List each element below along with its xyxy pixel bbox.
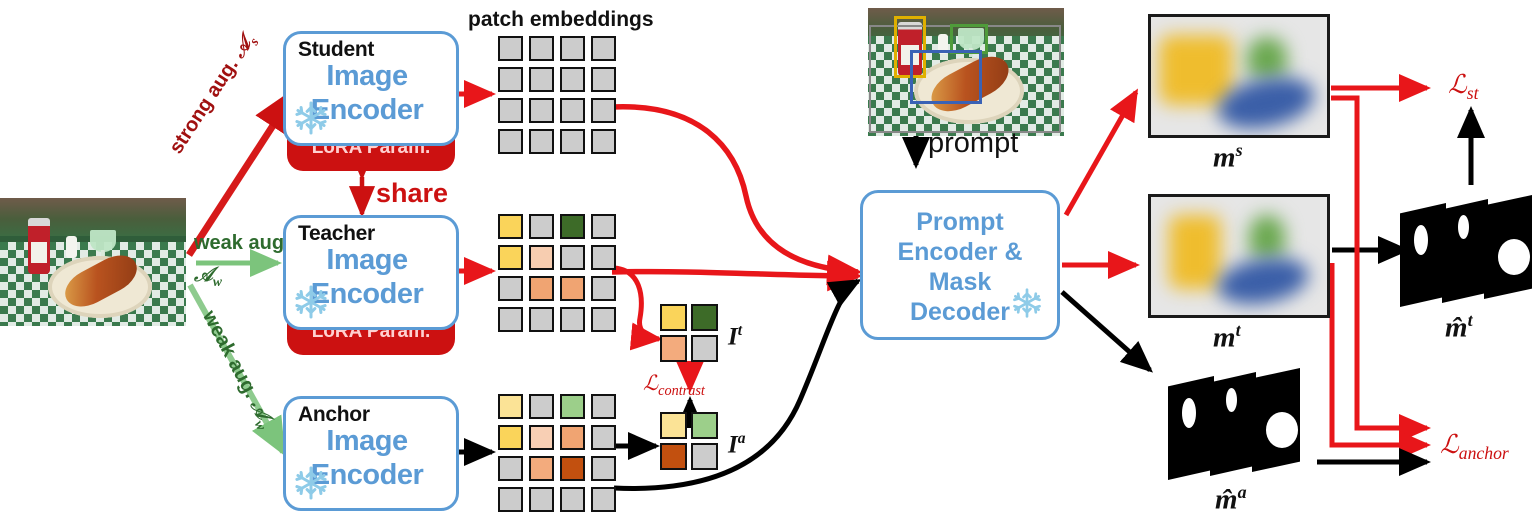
patch-cell [560,98,585,123]
teacher-encoder-box[interactable]: Teacher Image Encoder [283,215,459,330]
patch-cell [529,425,554,450]
patch-cell [560,394,585,419]
patch-cell [498,245,523,270]
mask-sheet-back [1168,376,1214,480]
patch-embeddings-label: patch embeddings [468,8,654,32]
patch-cell [529,67,554,92]
patch-cell [498,214,523,239]
arrow-student-grid-to-decoder [612,107,858,272]
patch-cell [529,36,554,61]
patch-cell [560,487,585,512]
token-anchor-label: Ia [728,430,745,459]
patch-cell [560,276,585,301]
patch-cell [529,214,554,239]
patch-cell [591,307,616,332]
anchor-role-label: Anchor [298,403,370,427]
patch-cell [529,245,554,270]
decoder-line2: Encoder & [863,237,1057,267]
student-patch-grid [498,36,616,154]
prompt-encoder-mask-decoder[interactable]: Prompt Encoder & Mask Decoder [860,190,1060,340]
loss-st-label: ℒst [1448,70,1479,104]
arrow-teacher-grid-to-token [614,268,659,339]
prompt-box-hotdog-plate [910,50,982,104]
source-image [0,198,186,326]
patch-cell [591,214,616,239]
mask-sheet-front [1484,195,1532,299]
patch-cell [591,129,616,154]
loss-anchor-label: ℒanchor [1440,430,1509,464]
patch-cell [560,129,585,154]
patch-cell [498,129,523,154]
blob-yellow [1159,35,1233,105]
patch-cell [529,456,554,481]
mask-hat-anchor-stack [1168,368,1300,498]
blob-green [1247,37,1287,79]
student-encoder-box[interactable]: Student Image Encoder [283,31,459,146]
patch-cell [560,245,585,270]
aug-weak-anchor-text: weak aug. [198,307,262,402]
patch-cell [498,36,523,61]
arrow-decoder-to-ms [1066,92,1136,215]
anchor-token-grid [660,412,718,470]
snowflake-icon [293,465,329,501]
aug-label-weak-anchor: weak aug. 𝒜w [195,307,279,433]
patch-cell [498,456,523,481]
loss-contrast-label: ℒcontrast [643,371,705,400]
patch-cell [591,456,616,481]
patch-cell [660,304,687,331]
patch-cell [498,307,523,332]
mask-sheet-front [1252,368,1300,472]
blob-blue [1214,251,1312,310]
patch-cell [498,276,523,301]
patch-cell [560,214,585,239]
blob-yellow [1169,215,1221,289]
aug-weak-teacher-text: weak aug. [194,232,290,254]
mask-hole [1498,239,1530,275]
share-label: share [376,178,448,209]
patch-cell [529,487,554,512]
patch-cell [591,36,616,61]
patch-cell [691,335,718,362]
aug-label-strong: strong aug. 𝒜s [165,30,262,160]
drink-glass [90,230,116,252]
mask-hole [1182,398,1196,428]
patch-cell [560,307,585,332]
patch-cell [591,487,616,512]
patch-cell [691,443,718,470]
patch-cell [560,36,585,61]
patch-cell [529,276,554,301]
mask-teacher-heat [1148,194,1330,318]
patch-cell [591,276,616,301]
student-role-label: Student [298,38,374,62]
mask-hole [1458,215,1469,239]
arrow-decoder-to-mhat-a [1062,292,1150,370]
token-teacher-label: It [728,322,742,351]
teacher-encoder[interactable]: LoRA Param. Teacher Image Encoder [283,215,459,355]
blob-green [1249,215,1285,259]
patch-cell [591,67,616,92]
aug-label-weak-teacher: weak aug. [194,232,290,255]
patch-cell [498,394,523,419]
snowflake-icon [293,100,329,136]
patch-cell [591,98,616,123]
patch-cell [529,98,554,123]
patch-cell [660,443,687,470]
teacher-line1: Image [286,244,448,277]
patch-cell [498,98,523,123]
anchor-encoder[interactable]: Anchor Image Encoder [283,396,459,511]
patch-cell [691,304,718,331]
prompt-label: prompt [928,127,1018,160]
mask-student-label: ms [1213,140,1243,175]
aug-weak-anchor-symbol: 𝒜w [246,396,279,431]
patch-cell [591,394,616,419]
anchor-line1: Image [286,425,448,458]
snowflake-icon [1011,287,1043,319]
mask-sheet-middle [1442,199,1488,303]
decoder-line1: Prompt [863,207,1057,237]
mask-hole [1266,412,1298,448]
anchor-encoder-box[interactable]: Anchor Image Encoder [283,396,459,511]
anchor-patch-grid [498,394,616,512]
patch-cell [591,425,616,450]
aug-symbol-weak-teacher: 𝒜w [194,264,222,290]
mask-hole [1226,388,1237,412]
mask-hole [1414,225,1428,255]
patch-cell [560,425,585,450]
patch-cell [660,335,687,362]
patch-cell [498,67,523,92]
aug-strong-text: strong aug. [165,55,243,158]
teacher-token-grid [660,304,718,362]
salt-shaker [66,236,77,258]
mask-sheet-middle [1210,372,1256,476]
mask-hat-teacher-stack [1400,195,1532,325]
aug-strong-symbol: 𝒜s [227,30,259,62]
patch-cell [529,129,554,154]
patch-cell [529,394,554,419]
patch-cell [691,412,718,439]
patch-cell [660,412,687,439]
mask-hat-teacher-label: m̂t [1445,310,1473,345]
arrow-teacher-grid-to-decoder [612,272,858,276]
patch-cell [498,425,523,450]
student-encoder[interactable]: LoRA Param. Student Image Encoder [283,31,459,171]
patch-cell [560,67,585,92]
snowflake-icon [293,284,329,320]
patch-cell [591,245,616,270]
patch-cell [529,307,554,332]
ketchup-bottle [28,218,50,274]
mask-sheet-back [1400,203,1446,307]
mask-teacher-label: mt [1213,320,1241,355]
teacher-patch-grid [498,214,616,332]
student-line1: Image [286,60,448,93]
prompt-image [868,8,1064,136]
aug-weak-teacher-symbol: 𝒜w [194,264,222,286]
teacher-role-label: Teacher [298,222,375,246]
mask-student-heat [1148,14,1330,138]
mask-hat-anchor-label: m̂a [1215,482,1247,517]
patch-cell [498,487,523,512]
patch-cell [560,456,585,481]
